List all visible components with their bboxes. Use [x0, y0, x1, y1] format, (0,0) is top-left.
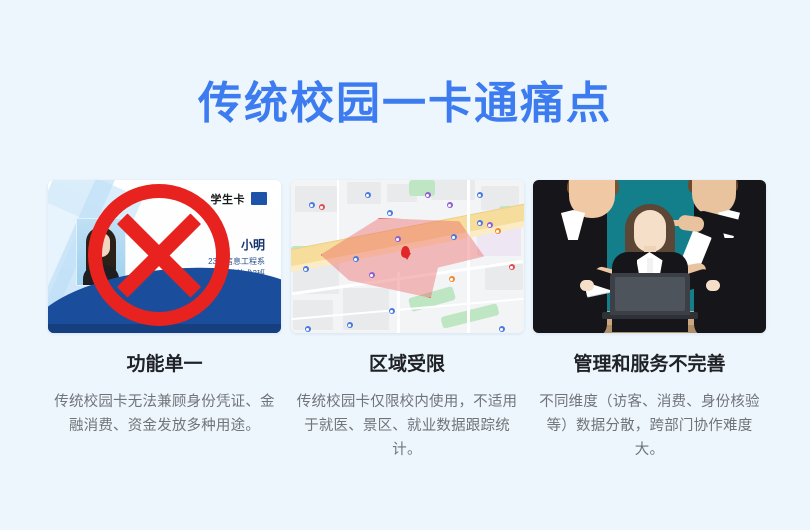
map-poi-marker — [369, 272, 375, 278]
slide-root: 传统校园一卡通痛点 学生卡 小明 23 — [0, 0, 810, 530]
staff-left-hand — [580, 280, 594, 291]
staff-right-hand — [706, 280, 720, 291]
card-body-text: 传统校园卡无法兼顾身份凭证、金融消费、资金发放多种用途。 — [48, 390, 281, 438]
map-poi-marker — [447, 202, 453, 208]
map-poi-marker — [477, 192, 483, 198]
map-block — [295, 186, 337, 212]
prohibition-x-icon — [88, 184, 230, 326]
student-name: 小明 — [241, 236, 265, 253]
card-body-text: 传统校园卡仅限校内使用，不适用于就医、景区、就业数据跟踪统计。 — [291, 390, 524, 462]
map-block — [485, 264, 523, 290]
map-park — [409, 180, 435, 196]
map-poi-marker — [389, 308, 395, 314]
overwhelmed-staff-illustration — [533, 180, 766, 333]
map-poi-marker — [495, 228, 501, 234]
page-title: 传统校园一卡通痛点 — [0, 78, 810, 130]
map-poi-marker — [477, 220, 483, 226]
map-thumbnail[interactable] — [291, 180, 524, 333]
map-block — [347, 182, 381, 204]
pain-point-card-row: 学生卡 小明 23级信息工程系 软件技术2班 功能单一 — [48, 180, 766, 480]
map-poi-marker — [449, 276, 455, 282]
illustration-thumbnail[interactable] — [533, 180, 766, 333]
card-heading: 功能单一 — [48, 353, 281, 377]
map-park — [440, 303, 499, 329]
student-id-card-graphic: 学生卡 小明 23级信息工程系 软件技术2班 — [48, 180, 281, 333]
pain-point-card-management-service[interactable]: 管理和服务不完善 不同维度（访客、消费、身份核验等）数据分散，跨部门协作难度大。 — [533, 180, 766, 480]
map-poi-marker — [487, 222, 493, 228]
map-poi-marker — [451, 234, 457, 240]
map-road — [337, 180, 339, 240]
map-poi-marker — [425, 192, 431, 198]
card-heading: 管理和服务不完善 — [533, 353, 766, 377]
map-poi-marker — [319, 204, 325, 210]
pain-point-card-function-single[interactable]: 学生卡 小明 23级信息工程系 软件技术2班 功能单一 — [48, 180, 281, 480]
laptop-icon — [610, 273, 690, 315]
pain-point-card-area-limited[interactable]: 区域受限 传统校园卡仅限校内使用，不适用于就医、景区、就业数据跟踪统计。 — [291, 180, 524, 480]
map-poi-marker — [347, 322, 353, 328]
map-poi-marker — [499, 326, 505, 332]
card-body-text: 不同维度（访客、消费、身份核验等）数据分散，跨部门协作难度大。 — [533, 390, 766, 462]
map-poi-marker — [309, 202, 315, 208]
map-graphic — [291, 180, 524, 333]
card-header-chip-icon — [251, 192, 267, 205]
map-poi-marker — [365, 192, 371, 198]
student-card-thumbnail[interactable]: 学生卡 小明 23级信息工程系 软件技术2班 — [48, 180, 281, 333]
map-location-pin-icon — [401, 246, 410, 258]
map-poi-marker — [353, 256, 359, 262]
map-poi-marker — [395, 236, 401, 242]
map-poi-marker — [303, 266, 309, 272]
map-poi-marker — [509, 264, 515, 270]
laptop-screen — [615, 277, 685, 311]
map-poi-marker — [387, 210, 393, 216]
map-poi-marker — [305, 326, 311, 332]
card-heading: 区域受限 — [291, 353, 524, 377]
